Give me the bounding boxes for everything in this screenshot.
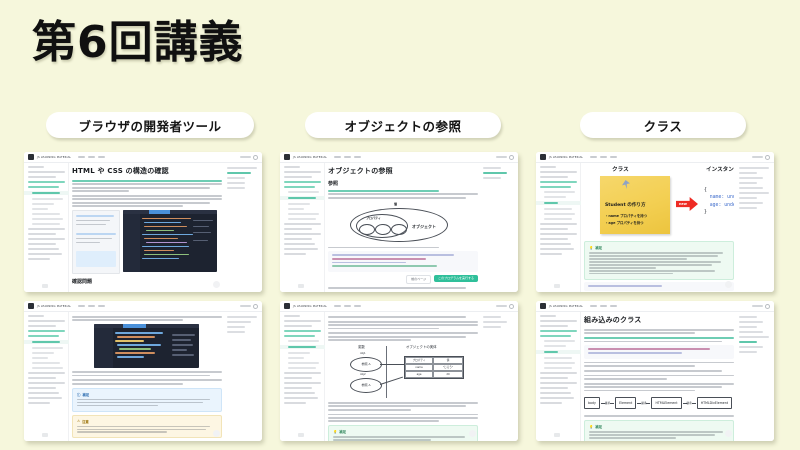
toc-item-active[interactable] xyxy=(227,172,251,174)
sidebar-item[interactable] xyxy=(28,402,50,404)
doc-sidebar[interactable] xyxy=(280,312,325,441)
sidebar-item[interactable] xyxy=(284,397,318,399)
sidebar-item-active[interactable] xyxy=(284,186,315,188)
sidebar-item[interactable] xyxy=(540,248,574,250)
property-ellipse xyxy=(359,224,375,235)
diagram-right-heading: オブジェクトの実体 xyxy=(406,344,437,349)
sidebar-item[interactable] xyxy=(284,382,321,384)
nav-item[interactable] xyxy=(590,156,597,158)
toc-item[interactable] xyxy=(739,346,763,348)
toc-item[interactable] xyxy=(739,207,757,209)
sidebar-item[interactable] xyxy=(288,203,310,205)
doc-toc[interactable] xyxy=(480,312,518,441)
inheritance-chain-diagram: body 継承 Element 継承 HTMLElement 継承 HTMLDi… xyxy=(584,395,734,411)
sidebar-item[interactable] xyxy=(284,248,318,250)
scroll-to-top-button[interactable] xyxy=(213,281,220,288)
sidebar-item[interactable] xyxy=(28,233,56,235)
sidebar-item[interactable] xyxy=(32,203,54,205)
nav-item[interactable] xyxy=(334,156,341,158)
connector xyxy=(380,364,404,365)
page-title: 第6回講義 xyxy=(32,18,244,69)
sidebar-item[interactable] xyxy=(540,320,577,322)
callout-tip: 💡補足 xyxy=(584,420,734,441)
doc-sidebar[interactable] xyxy=(536,312,581,441)
sidebar-item[interactable] xyxy=(32,357,48,359)
sidebar-item[interactable] xyxy=(540,387,568,389)
card-object-reference-page-1[interactable]: JS LEARNING MATERIAL xyxy=(280,152,518,292)
sidebar-item[interactable] xyxy=(28,243,56,245)
code-line xyxy=(332,254,454,256)
sidebar-item[interactable] xyxy=(540,228,568,230)
paragraph xyxy=(584,370,734,372)
sidebar-item[interactable] xyxy=(32,352,54,354)
site-brand: JS LEARNING MATERIAL xyxy=(37,305,71,308)
doc-toc[interactable] xyxy=(224,312,262,441)
nav-item[interactable] xyxy=(78,156,85,158)
card-browser-devtools-page-1[interactable]: JS LEARNING MATERIAL xyxy=(24,152,262,292)
topic-pill-devtools[interactable]: ブラウザの開発者ツール xyxy=(46,112,254,138)
sidebar-item[interactable] xyxy=(284,166,300,168)
table-header-cell: プロパティ xyxy=(405,357,433,364)
doc-content: ⓘ補足 ⚠注意 xyxy=(72,314,222,441)
toc-item[interactable] xyxy=(739,182,757,184)
sidebar-item[interactable] xyxy=(28,387,56,389)
doc-sidebar[interactable] xyxy=(24,312,69,441)
nav-item[interactable] xyxy=(600,156,607,158)
toc-item[interactable] xyxy=(227,326,245,328)
sidebar-item-selected[interactable] xyxy=(24,191,69,195)
paragraph xyxy=(328,332,478,341)
doc-sidebar[interactable] xyxy=(536,163,581,292)
doc-toc[interactable] xyxy=(736,312,774,441)
sidebar-item[interactable] xyxy=(284,171,321,173)
sidebar-item[interactable] xyxy=(544,340,575,342)
sidebar-item[interactable] xyxy=(32,218,63,220)
inline-screenshot-light xyxy=(72,210,120,274)
doc-toc[interactable] xyxy=(480,163,518,292)
toc-item[interactable] xyxy=(227,331,245,333)
nav-item[interactable] xyxy=(354,305,361,307)
sidebar-item[interactable] xyxy=(284,233,321,235)
object-reference-diagram: 値 プロパティ オブジェクト xyxy=(328,202,478,244)
lightbulb-icon: 💡 xyxy=(333,430,337,434)
sidebar-item[interactable] xyxy=(284,315,300,317)
toc-item[interactable] xyxy=(227,177,245,179)
code-line xyxy=(332,265,437,267)
sidebar-item[interactable] xyxy=(284,243,315,245)
sidebar-item[interactable] xyxy=(544,208,572,210)
paragraph xyxy=(328,247,478,249)
paragraph xyxy=(328,321,478,330)
sidebar-item[interactable] xyxy=(540,397,574,399)
sidebar-item[interactable] xyxy=(28,320,65,322)
site-brand: JS LEARNING MATERIAL xyxy=(293,156,327,159)
sticky-note-bullet: ・name プロパティを持つ xyxy=(605,213,647,218)
sidebar-collapse-button[interactable] xyxy=(554,433,560,437)
paragraph xyxy=(72,195,222,207)
doc-header-actions[interactable] xyxy=(240,304,258,309)
sidebar-item[interactable] xyxy=(540,243,571,245)
sidebar-item[interactable] xyxy=(540,377,568,379)
sidebar-item[interactable] xyxy=(28,372,65,374)
card-builtin-class-page[interactable]: JS LEARNING MATERIAL xyxy=(536,301,774,441)
doc-header: JS LEARNING MATERIAL xyxy=(24,152,262,163)
paragraph xyxy=(72,180,222,192)
code-line-open: { xyxy=(704,188,707,193)
nav-item[interactable] xyxy=(334,305,341,307)
sidebar-item[interactable] xyxy=(28,397,62,399)
arrow-label: new xyxy=(679,202,687,206)
sidebar-item[interactable] xyxy=(28,228,65,230)
doc-heading: HTML や CSS の構造の確認 xyxy=(72,166,222,176)
doc-page: JS LEARNING MATERIAL xyxy=(280,152,518,292)
doc-top-nav[interactable] xyxy=(78,156,105,158)
sidebar-item-active[interactable] xyxy=(540,181,577,183)
site-logo-icon xyxy=(540,154,546,160)
code-line xyxy=(332,262,406,264)
sidebar-item[interactable] xyxy=(28,248,59,250)
sidebar-item[interactable] xyxy=(28,325,56,327)
site-brand: JS LEARNING MATERIAL xyxy=(549,156,583,159)
login-link[interactable] xyxy=(240,156,251,158)
sidebar-item[interactable] xyxy=(28,176,56,178)
sidebar-item-selected[interactable] xyxy=(536,201,581,205)
sidebar-item[interactable] xyxy=(540,315,556,317)
card-class-page-1[interactable]: JS LEARNING MATERIAL xyxy=(536,152,774,292)
doc-top-nav[interactable] xyxy=(78,305,105,307)
sidebar-item[interactable] xyxy=(288,340,319,342)
sidebar-item[interactable] xyxy=(288,352,310,354)
paragraph xyxy=(328,287,478,289)
sidebar-item[interactable] xyxy=(540,166,556,168)
code-actions[interactable]: 前のページ このプログラムを実行する xyxy=(328,275,478,284)
sticky-note-bullet: ・age プロパティを持つ xyxy=(605,220,644,225)
sidebar-item[interactable] xyxy=(284,387,312,389)
sidebar-item[interactable] xyxy=(284,325,312,327)
chain-box: HTMLDivElement xyxy=(697,397,732,409)
sidebar-item[interactable] xyxy=(284,392,315,394)
callout-tip: 💡補足 xyxy=(328,425,478,441)
sidebar-item[interactable] xyxy=(544,345,566,347)
variable-label: obj1 xyxy=(360,352,366,355)
sidebar-item[interactable] xyxy=(28,377,56,379)
nav-item[interactable] xyxy=(88,305,95,307)
sidebar-collapse-button[interactable] xyxy=(554,284,560,288)
sidebar-item[interactable] xyxy=(32,198,63,200)
code-block xyxy=(328,251,478,271)
sidebar-collapse-button[interactable] xyxy=(298,433,304,437)
callout-title: 💡補足 xyxy=(589,245,729,250)
topic-pill-label: ブラウザの開発者ツール xyxy=(78,116,221,135)
toc-heading xyxy=(227,167,257,169)
nav-item[interactable] xyxy=(78,305,85,307)
sidebar-item[interactable] xyxy=(288,213,319,215)
paragraph xyxy=(72,379,222,384)
toc-item[interactable] xyxy=(483,177,501,179)
site-logo-icon xyxy=(540,303,546,309)
sidebar-item-selected[interactable] xyxy=(280,345,325,349)
paragraph xyxy=(584,415,734,417)
code-line xyxy=(588,348,710,350)
sidebar-item[interactable] xyxy=(28,238,65,240)
inline-screenshot-editor xyxy=(123,210,217,272)
toc-item[interactable] xyxy=(739,177,763,179)
doc-header-actions[interactable] xyxy=(240,155,258,160)
sidebar-item[interactable] xyxy=(540,325,568,327)
nav-item[interactable] xyxy=(344,305,351,307)
login-link[interactable] xyxy=(752,156,763,158)
toc-item-active[interactable] xyxy=(483,172,507,174)
sidebar-item[interactable] xyxy=(288,362,319,364)
table-cell: name xyxy=(405,364,433,371)
code-line-close: } xyxy=(704,210,707,215)
sidebar-item[interactable] xyxy=(284,402,306,404)
paragraph xyxy=(328,402,478,411)
sidebar-item[interactable] xyxy=(32,347,63,349)
scroll-to-top-button[interactable] xyxy=(725,430,732,437)
warning-icon: ⚠ xyxy=(77,419,80,423)
toc-item[interactable] xyxy=(739,351,757,353)
site-logo-icon xyxy=(284,154,290,160)
sidebar-item[interactable] xyxy=(28,315,44,317)
sidebar-item[interactable] xyxy=(28,258,50,260)
sidebar-item[interactable] xyxy=(32,208,48,210)
sidebar-item[interactable] xyxy=(540,253,562,255)
sidebar-item[interactable] xyxy=(32,367,63,369)
nav-item[interactable] xyxy=(600,305,607,307)
sidebar-item-active[interactable] xyxy=(540,335,571,337)
chain-box: HTMLElement xyxy=(651,397,681,409)
code-block xyxy=(584,282,734,292)
gear-icon[interactable] xyxy=(253,155,258,160)
lightbulb-icon: 💡 xyxy=(589,246,593,250)
doc-toc[interactable] xyxy=(736,163,774,292)
sidebar-item-active[interactable] xyxy=(540,330,577,332)
gear-icon[interactable] xyxy=(509,155,514,160)
gear-icon[interactable] xyxy=(509,304,514,309)
toc-item[interactable] xyxy=(739,192,769,194)
sidebar-item[interactable] xyxy=(284,253,306,255)
sidebar-item[interactable] xyxy=(288,218,316,220)
toc-item[interactable] xyxy=(483,321,507,323)
sidebar-item[interactable] xyxy=(284,372,321,374)
code-line-name: name: undefined, xyxy=(704,195,734,200)
sticky-note-title: Student の作り方 xyxy=(605,202,646,208)
sidebar-item[interactable] xyxy=(28,171,65,173)
doc-content: 変数 オブジェクトの実体 obj1 参照 A obj2 参照 A プロパティ 値… xyxy=(328,314,478,441)
doc-content: HTML や CSS の構造の確認 xyxy=(72,165,222,292)
diagram-instance-heading: インスタンス xyxy=(706,165,734,173)
nav-item[interactable] xyxy=(98,305,105,307)
sidebar-item-selected[interactable] xyxy=(536,350,581,354)
sidebar-item[interactable] xyxy=(284,377,312,379)
property-ellipse xyxy=(375,224,391,235)
sidebar-item[interactable] xyxy=(28,166,44,168)
sidebar-item[interactable] xyxy=(540,233,577,235)
variable-label: obj2 xyxy=(360,373,366,376)
login-link[interactable] xyxy=(240,305,251,307)
doc-heading: 組み込みのクラス xyxy=(584,315,734,325)
doc-subheading: 参照 xyxy=(328,180,478,187)
property-ellipse xyxy=(391,224,407,235)
diagram-divider xyxy=(386,346,387,398)
sidebar-item-selected[interactable] xyxy=(280,196,325,200)
sidebar-item[interactable] xyxy=(284,238,312,240)
sidebar-item[interactable] xyxy=(284,223,321,225)
sidebar-item-active[interactable] xyxy=(28,330,65,332)
card-object-reference-page-2[interactable]: JS LEARNING MATERIAL xyxy=(280,301,518,441)
nav-item[interactable] xyxy=(344,156,351,158)
reset-button[interactable]: 前のページ xyxy=(406,275,431,284)
sidebar-item[interactable] xyxy=(544,357,572,359)
sidebar-item[interactable] xyxy=(28,253,62,255)
doc-header-actions[interactable] xyxy=(752,155,770,160)
toc-heading xyxy=(739,316,757,318)
topic-pill-label: オブジェクトの参照 xyxy=(344,116,461,135)
toc-item[interactable] xyxy=(739,187,763,189)
nav-item[interactable] xyxy=(354,156,361,158)
code-line xyxy=(332,258,426,260)
sidebar-item[interactable] xyxy=(32,362,60,364)
sidebar-item[interactable] xyxy=(544,218,572,220)
doc-top-nav[interactable] xyxy=(590,156,617,158)
inline-screenshot-editor xyxy=(94,324,199,368)
nav-item[interactable] xyxy=(610,156,617,158)
doc-content: クラス インスタンス Student の作り方 ・name プロパティを持つ ・… xyxy=(584,165,734,292)
nav-item[interactable] xyxy=(610,305,617,307)
sidebar-collapse-button[interactable] xyxy=(42,433,48,437)
sidebar-item[interactable] xyxy=(540,392,571,394)
gear-icon[interactable] xyxy=(765,155,770,160)
nav-item[interactable] xyxy=(88,156,95,158)
sidebar-item-active[interactable] xyxy=(28,181,65,183)
doc-header-actions[interactable] xyxy=(752,304,770,309)
callout-warning: ⚠注意 xyxy=(72,415,222,439)
sidebar-item-active[interactable] xyxy=(284,181,321,183)
topic-pill-object-reference[interactable]: オブジェクトの参照 xyxy=(305,112,501,138)
sidebar-item-active[interactable] xyxy=(284,330,321,332)
doc-top-nav[interactable] xyxy=(590,305,617,307)
doc-toc[interactable] xyxy=(224,163,262,292)
doc-header-actions[interactable] xyxy=(496,155,514,160)
paragraph xyxy=(584,375,734,380)
sidebar-item-active[interactable] xyxy=(540,186,571,188)
code-line xyxy=(588,285,662,287)
gear-icon[interactable] xyxy=(765,304,770,309)
nav-item[interactable] xyxy=(98,156,105,158)
scroll-to-top-button[interactable] xyxy=(469,430,476,437)
sidebar-item-selected[interactable] xyxy=(24,340,69,344)
card-browser-devtools-page-2[interactable]: JS LEARNING MATERIAL xyxy=(24,301,262,441)
toc-item[interactable] xyxy=(739,202,763,204)
doc-header: JS LEARNING MATERIAL xyxy=(280,301,518,312)
sidebar-item-active[interactable] xyxy=(28,335,59,337)
doc-header: JS LEARNING MATERIAL xyxy=(24,301,262,312)
sidebar-item[interactable] xyxy=(540,382,577,384)
sidebar-item[interactable] xyxy=(544,191,575,193)
sticky-note-class-recipe: Student の作り方 ・name プロパティを持つ ・age プロパティを持… xyxy=(600,176,670,234)
sidebar-item[interactable] xyxy=(544,213,575,215)
doc-top-nav[interactable] xyxy=(334,305,361,307)
toc-item[interactable] xyxy=(739,172,757,174)
sidebar-item[interactable] xyxy=(32,223,60,225)
doc-sidebar[interactable] xyxy=(280,163,325,292)
sidebar-item[interactable] xyxy=(288,208,304,210)
nav-item[interactable] xyxy=(590,305,597,307)
sidebar-item[interactable] xyxy=(284,320,321,322)
doc-page: JS LEARNING MATERIAL xyxy=(24,301,262,441)
login-link[interactable] xyxy=(496,156,507,158)
sidebar-item[interactable] xyxy=(288,357,304,359)
sidebar-item[interactable] xyxy=(284,176,312,178)
sidebar-item-active[interactable] xyxy=(28,186,59,188)
sidebar-item[interactable] xyxy=(544,196,566,198)
doc-content: オブジェクトの参照 参照 値 プロパティ オブジェクト xyxy=(328,165,478,292)
sidebar-item[interactable] xyxy=(544,362,575,364)
scroll-to-top-button[interactable] xyxy=(725,281,732,288)
topic-pill-class[interactable]: クラス xyxy=(580,112,746,138)
sidebar-item[interactable] xyxy=(288,367,316,369)
login-link[interactable] xyxy=(496,305,507,307)
toc-item[interactable] xyxy=(739,326,757,328)
callout-title: ⓘ補足 xyxy=(77,392,217,397)
paragraph xyxy=(72,316,222,321)
lightbulb-icon: 💡 xyxy=(589,425,593,429)
table-cell: "じろう" xyxy=(433,364,463,371)
sidebar-item-active[interactable] xyxy=(284,335,315,337)
doc-top-nav[interactable] xyxy=(334,156,361,158)
toc-item[interactable] xyxy=(739,331,763,333)
sidebar-item[interactable] xyxy=(284,228,312,230)
login-link[interactable] xyxy=(752,305,763,307)
sidebar-item[interactable] xyxy=(540,223,577,225)
scroll-to-top-button[interactable] xyxy=(213,430,220,437)
sidebar-item[interactable] xyxy=(32,213,60,215)
doc-header-actions[interactable] xyxy=(496,304,514,309)
sidebar-item[interactable] xyxy=(28,392,59,394)
run-button[interactable]: このプログラムを実行する xyxy=(434,275,478,282)
callout-title: 💡補足 xyxy=(333,429,473,434)
toc-heading xyxy=(483,167,501,169)
toc-item[interactable] xyxy=(739,197,757,199)
object-property-table: プロパティ 値 name "じろう" age 20 xyxy=(404,356,464,379)
toc-item[interactable] xyxy=(227,182,245,184)
sidebar-item[interactable] xyxy=(288,191,319,193)
paragraph xyxy=(328,414,478,423)
toc-item[interactable] xyxy=(739,321,763,323)
sidebar-item[interactable] xyxy=(540,402,562,404)
toc-item[interactable] xyxy=(227,321,251,323)
sidebar-item[interactable] xyxy=(540,171,577,173)
doc-sidebar[interactable] xyxy=(24,163,69,292)
site-brand: JS LEARNING MATERIAL xyxy=(37,156,71,159)
toc-item-active[interactable] xyxy=(739,341,757,343)
sidebar-item[interactable] xyxy=(540,372,577,374)
sidebar-item[interactable] xyxy=(544,367,572,369)
doc-content: 組み込みのクラス body 継承 Element 継承 xyxy=(584,314,734,441)
topic-pill-label: クラス xyxy=(644,116,683,135)
toc-item[interactable] xyxy=(483,326,501,328)
gear-icon[interactable] xyxy=(253,304,258,309)
toc-item[interactable] xyxy=(227,187,245,189)
sidebar-item[interactable] xyxy=(540,176,568,178)
toc-item[interactable] xyxy=(739,336,769,338)
site-logo-icon xyxy=(28,154,34,160)
sidebar-collapse-button[interactable] xyxy=(42,284,48,288)
sidebar-collapse-button[interactable] xyxy=(298,284,304,288)
sidebar-item[interactable] xyxy=(540,238,568,240)
sidebar-item[interactable] xyxy=(28,382,65,384)
